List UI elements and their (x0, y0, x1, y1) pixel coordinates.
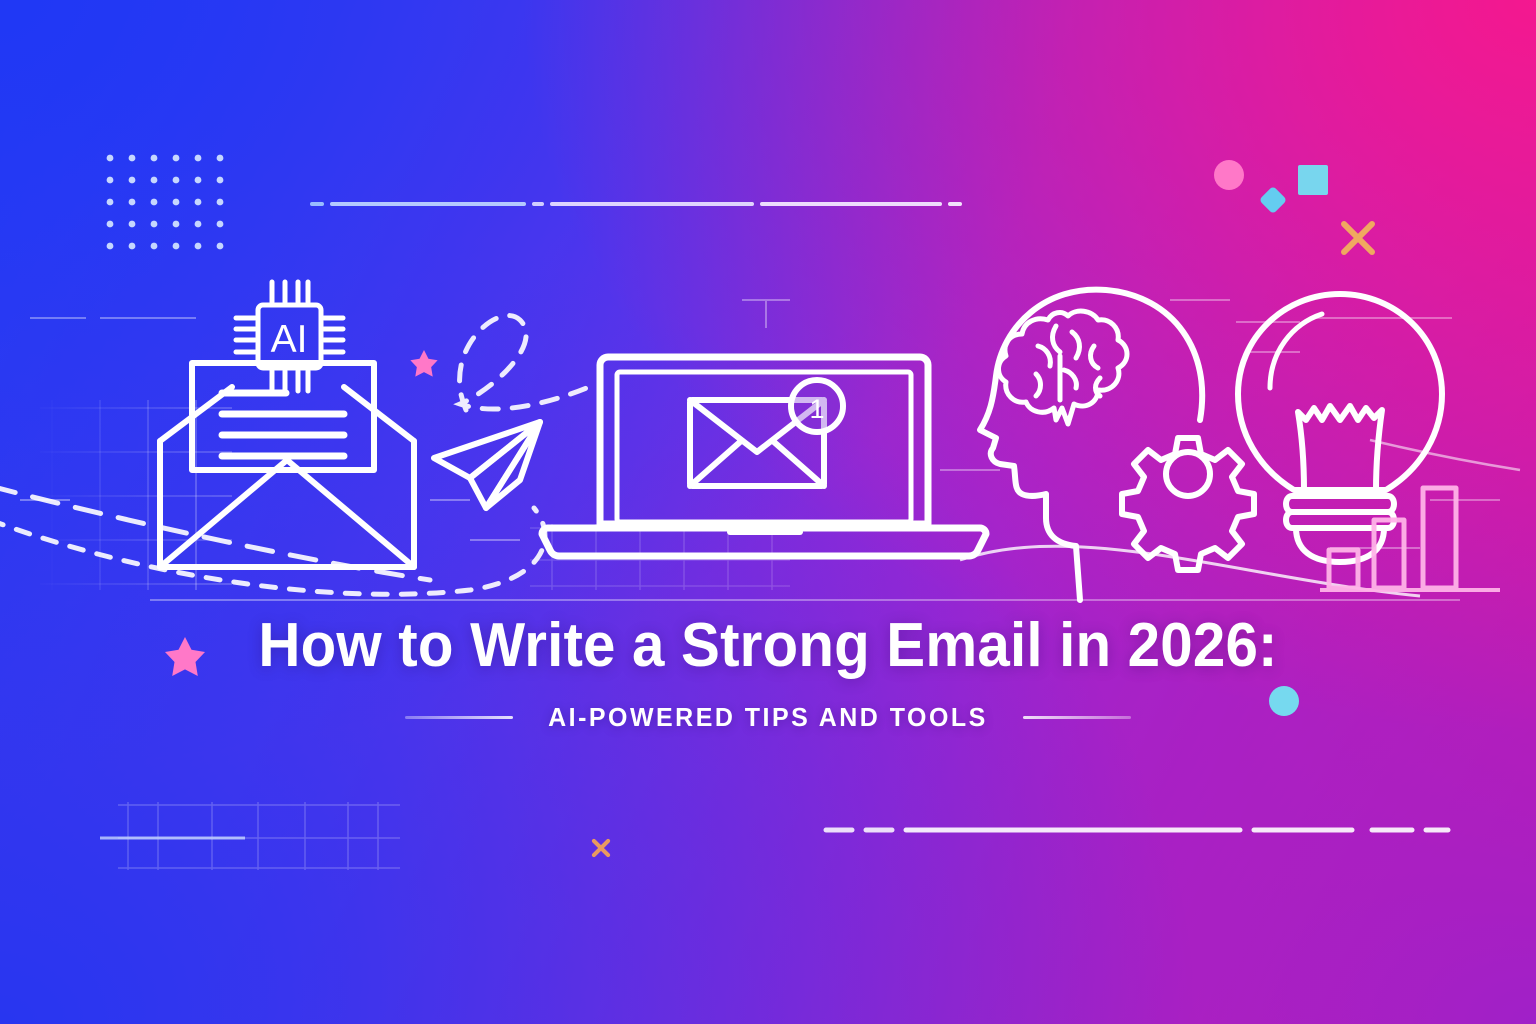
pink-star-title-icon (163, 634, 207, 678)
pink-star-small-icon (409, 348, 439, 378)
bar-chart-icon (0, 0, 1536, 1024)
bar-1 (1329, 550, 1358, 588)
cyan-square-shape (1298, 165, 1328, 195)
hero-banner: AI 1 (0, 0, 1536, 1024)
orange-x-large-icon (1336, 216, 1380, 260)
orange-x-small-icon (588, 835, 614, 861)
pink-circle-shape (1214, 160, 1244, 190)
bar-2 (1374, 520, 1404, 588)
bar-3 (1423, 488, 1456, 588)
cyan-circle-shape (1269, 686, 1299, 716)
